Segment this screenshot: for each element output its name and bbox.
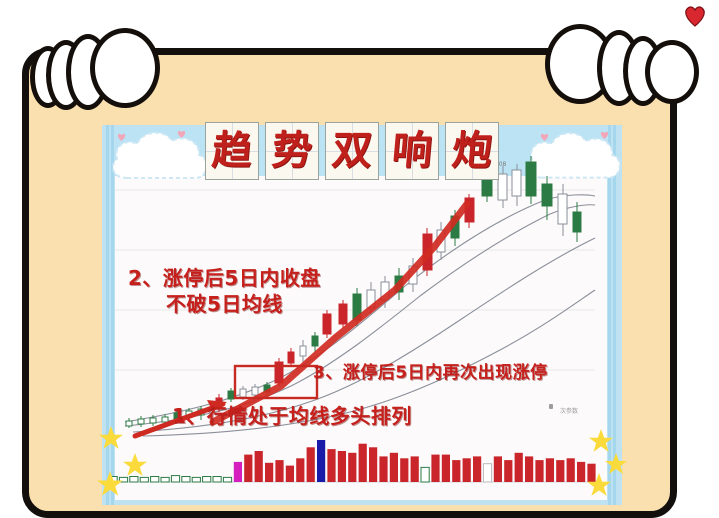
volume-bar — [431, 455, 439, 482]
volume-bar — [473, 456, 481, 482]
volume-bar — [567, 458, 575, 482]
hand-left — [30, 28, 170, 108]
volume-chart — [95, 430, 615, 486]
finger-l-thumb — [90, 28, 160, 108]
volume-bar — [556, 460, 564, 482]
volume-bar — [525, 456, 533, 482]
title-char-box-3: 双 — [325, 122, 379, 180]
volume-bar — [442, 455, 450, 482]
volume-bar — [390, 453, 398, 482]
volume-bar — [494, 456, 502, 482]
title-char-1: 趋 — [210, 131, 253, 171]
volume-bar — [411, 456, 419, 482]
title-char-box-5: 炮 — [445, 122, 499, 180]
annotation-2-line-1: 2、涨停后5日内收盘 — [128, 265, 321, 291]
title-char-5: 炮 — [450, 131, 493, 171]
title-char-2: 势 — [270, 131, 313, 171]
title-char-3: 双 — [330, 131, 373, 171]
watermark-text: 次参数 — [560, 406, 578, 415]
volume-bar — [307, 447, 315, 482]
volume-bar — [161, 477, 169, 482]
volume-bar — [421, 467, 429, 482]
volume-bar — [452, 460, 460, 482]
volume-bar — [348, 453, 356, 482]
volume-bar — [369, 447, 377, 482]
volume-bar — [255, 451, 263, 482]
volume-bar — [359, 444, 367, 482]
star-icon-3 — [96, 470, 124, 503]
volume-bar — [171, 476, 179, 482]
volume-bar — [151, 477, 159, 483]
title-char-4: 响 — [390, 131, 433, 171]
star-icon-1 — [98, 425, 124, 456]
volume-bar — [577, 462, 585, 482]
volume-bar — [515, 453, 523, 482]
poster-title: 趋 势 双 响 炮 — [205, 122, 499, 180]
poster-image: 7.08 2、涨停后5日内收盘 不破5日均线 3、涨停后5日内再次出现涨停 1、… — [0, 0, 719, 500]
volume-bar — [192, 477, 200, 482]
volume-bar — [463, 458, 471, 482]
volume-bar — [265, 463, 273, 482]
volume-bar — [338, 451, 346, 482]
volume-bar — [483, 464, 491, 482]
hand-right — [545, 24, 695, 106]
star-icon-2 — [122, 452, 148, 483]
volume-bar — [275, 460, 283, 482]
volume-bar — [327, 449, 335, 482]
title-char-box-1: 趋 — [205, 122, 259, 180]
volume-bar — [286, 466, 294, 482]
volume-bar — [535, 460, 543, 482]
volume-bar — [379, 456, 387, 482]
star-icon-6 — [586, 472, 612, 503]
volume-bar — [213, 477, 221, 483]
volume-bar — [182, 477, 190, 483]
annotation-3: 3、涨停后5日内再次出现涨停 — [313, 358, 548, 383]
title-char-box-2: 势 — [265, 122, 319, 180]
volume-bar — [546, 458, 554, 482]
annotation-1: 1、行情处于均线多头排列 — [172, 400, 412, 429]
annotation-2-line-2: 不破5日均线 — [128, 291, 321, 317]
volume-bar — [317, 440, 325, 482]
volume-bar — [203, 477, 211, 483]
title-char-box-4: 响 — [385, 122, 439, 180]
annotation-2: 2、涨停后5日内收盘 不破5日均线 — [128, 265, 321, 317]
volume-bar — [234, 462, 242, 482]
finger-r-1 — [645, 40, 699, 104]
volume-bar — [296, 458, 304, 482]
volume-bar — [400, 458, 408, 482]
volume-bar — [504, 460, 512, 482]
heart-icon — [683, 5, 705, 25]
volume-bar — [223, 477, 231, 482]
volume-bar — [244, 455, 252, 482]
watermark-dot — [549, 404, 553, 409]
